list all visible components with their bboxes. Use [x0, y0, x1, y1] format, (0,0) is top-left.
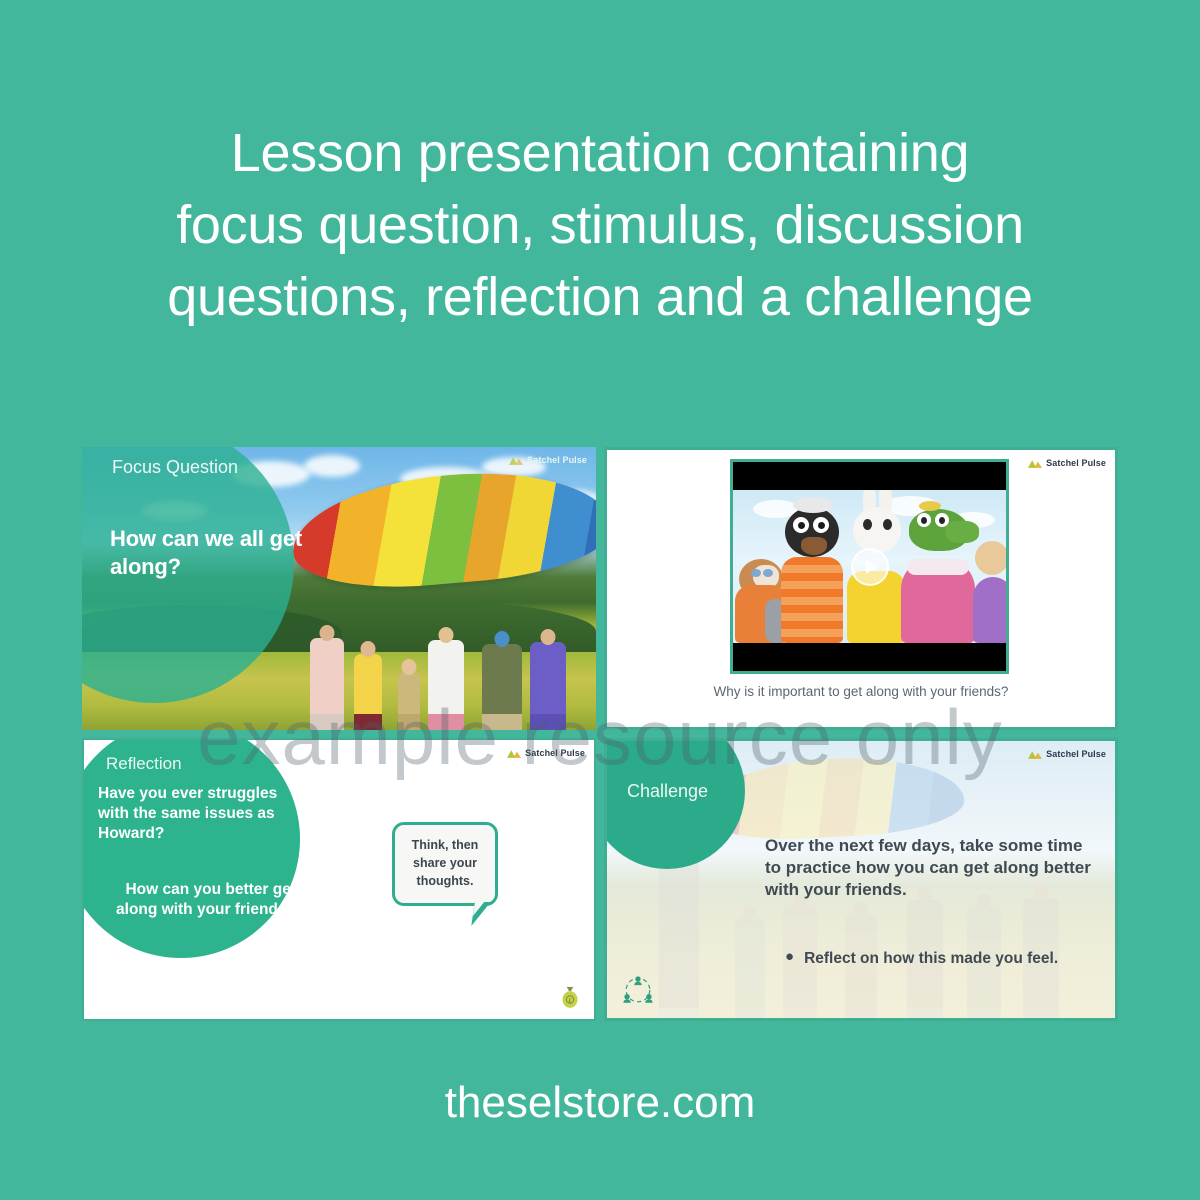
bullet-marker: ● — [785, 949, 794, 969]
teamwork-icon — [621, 974, 655, 1006]
slide3-question-2: How can you better get along with your f… — [104, 880, 296, 920]
slide-challenge[interactable]: Satchel Pulse Challenge Over the next fe… — [604, 738, 1118, 1021]
slide4-bullet-text: Reflect on how this made you feel. — [804, 949, 1058, 969]
brand-logo: Satchel Pulse — [1028, 749, 1106, 759]
slide3-question-1: Have you ever struggles with the same is… — [98, 784, 290, 844]
slide-thumbnail-grid: Focus Question How can we all get along?… — [82, 447, 1118, 1028]
slide4-bullet-item: ● Reflect on how this made you feel. — [785, 949, 1095, 969]
brand-logo-text: Satchel Pulse — [1046, 458, 1106, 468]
slide-reflection[interactable]: Satchel Pulse Reflection Have you ever s… — [82, 738, 596, 1021]
slide4-label: Challenge — [627, 781, 708, 802]
mountain-mark-icon — [1028, 458, 1042, 468]
mountain-mark-icon — [509, 455, 523, 465]
video-letterbox-bottom — [733, 643, 1006, 671]
speech-bubble: Think, then share your thoughts. — [392, 822, 498, 906]
promo-page: Lesson presentation containing focus que… — [0, 0, 1200, 1200]
brand-logo-text: Satchel Pulse — [1046, 749, 1106, 759]
slide1-question: How can we all get along? — [110, 525, 315, 581]
brand-logo-text: Satchel Pulse — [527, 455, 587, 465]
mountain-mark-icon — [507, 748, 521, 758]
slide4-body: Over the next few days, take some time t… — [765, 835, 1095, 900]
parachute-graphic — [288, 461, 596, 596]
mountain-mark-icon — [1028, 749, 1042, 759]
brand-logo: Satchel Pulse — [1028, 458, 1106, 468]
video-letterbox-top — [733, 462, 1006, 490]
speech-bubble-text: Think, then share your thoughts. — [395, 837, 495, 890]
slide1-label: Focus Question — [112, 457, 238, 478]
brand-logo: Satchel Pulse — [509, 455, 587, 465]
play-icon[interactable] — [851, 548, 889, 586]
brand-logo-text: Satchel Pulse — [525, 748, 585, 758]
video-thumbnail — [733, 490, 1006, 643]
slide2-caption: Why is it important to get along with yo… — [607, 682, 1115, 702]
headline-line-3: questions, reflection and a challenge — [90, 262, 1110, 334]
headline-line-1: Lesson presentation containing — [90, 118, 1110, 190]
footer-url: theselstore.com — [0, 1078, 1200, 1128]
slide-stimulus[interactable]: Satchel Pulse — [604, 447, 1118, 730]
money-bag-icon: £ — [560, 985, 580, 1009]
slide3-label: Reflection — [106, 754, 182, 774]
headline-line-2: focus question, stimulus, discussion — [90, 190, 1110, 262]
slide-focus-question[interactable]: Focus Question How can we all get along?… — [82, 447, 596, 730]
video-player[interactable] — [730, 459, 1009, 674]
brand-logo: Satchel Pulse — [507, 748, 585, 758]
page-title: Lesson presentation containing focus que… — [0, 118, 1200, 333]
